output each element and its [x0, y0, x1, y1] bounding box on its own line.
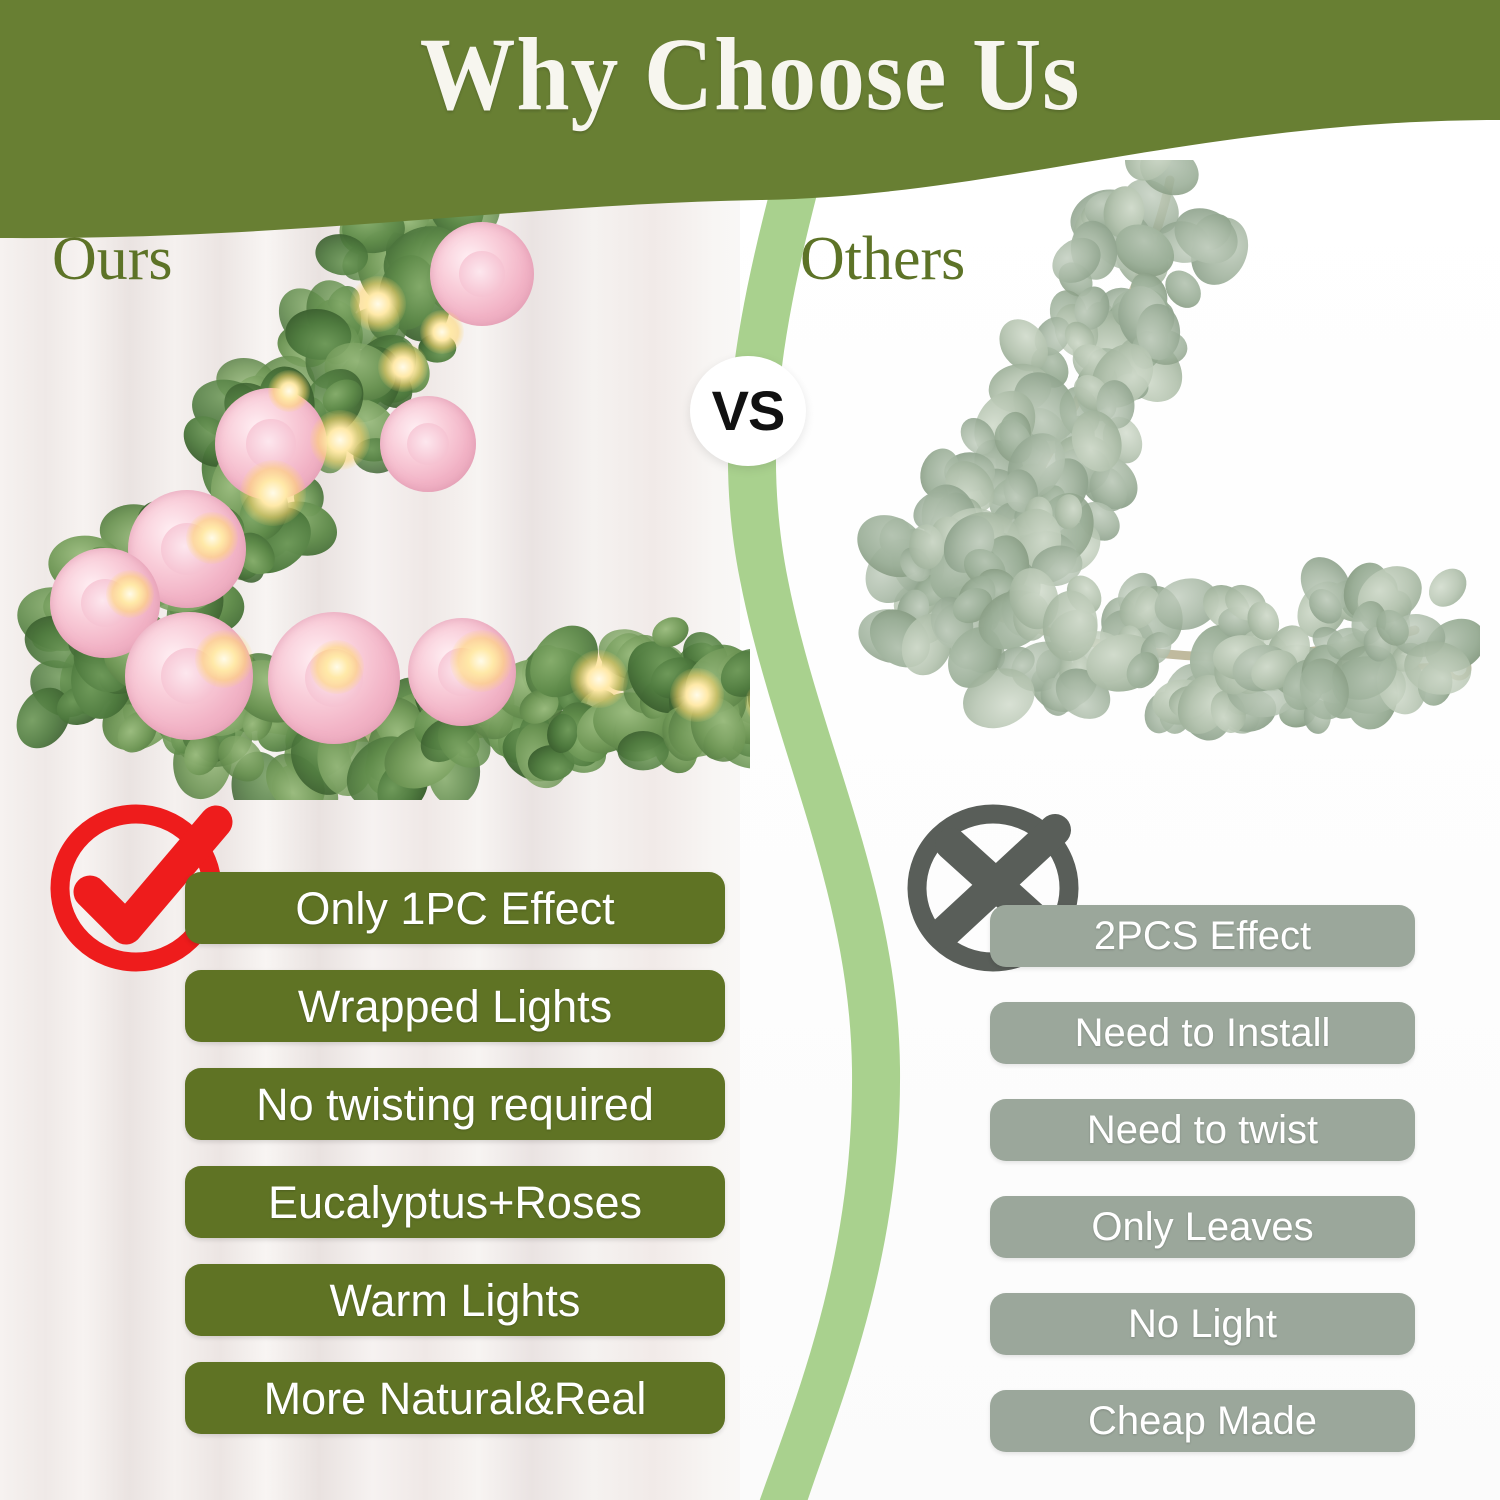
page-title: Why Choose Us [0, 0, 1500, 150]
others-feature-pill-label: Only Leaves [1091, 1207, 1313, 1247]
others-feature-pill-label: Cheap Made [1088, 1401, 1317, 1441]
others-feature-pill[interactable]: 2PCS Effect [990, 905, 1415, 967]
others-feature-pill-label: No Light [1128, 1304, 1277, 1344]
ours-feature-pill-label: Only 1PC Effect [295, 886, 614, 931]
warm-light-icon [350, 276, 406, 332]
page-title-text: Why Choose Us [420, 23, 1081, 127]
others-feature-pill[interactable]: Cheap Made [990, 1390, 1415, 1452]
warm-light-icon [378, 342, 428, 392]
infographic-canvas: Why Choose Us Ours Others VS Only 1PC Ef… [0, 0, 1500, 1500]
warm-light-icon [450, 630, 512, 692]
others-feature-pill[interactable]: Need to Install [990, 1002, 1415, 1064]
warm-light-icon [268, 370, 310, 412]
header-banner: Why Choose Us [0, 0, 1500, 250]
warm-light-icon [310, 410, 370, 470]
ours-label: Ours [52, 228, 173, 290]
ours-feature-pill-label: More Natural&Real [264, 1376, 647, 1421]
ours-feature-pill-label: Eucalyptus+Roses [268, 1180, 642, 1225]
ours-feature-pill[interactable]: No twisting required [185, 1068, 725, 1140]
ours-feature-pill[interactable]: More Natural&Real [185, 1362, 725, 1434]
others-feature-pill-label: 2PCS Effect [1094, 916, 1311, 956]
warm-light-icon [186, 512, 238, 564]
ours-feature-pill[interactable]: Wrapped Lights [185, 970, 725, 1042]
ours-feature-pill[interactable]: Eucalyptus+Roses [185, 1166, 725, 1238]
others-feature-pill[interactable]: No Light [990, 1293, 1415, 1355]
ours-feature-pill[interactable]: Warm Lights [185, 1264, 725, 1336]
warm-light-icon [420, 310, 464, 354]
warm-light-icon [106, 570, 154, 618]
others-feature-pill[interactable]: Need to twist [990, 1099, 1415, 1161]
others-feature-pill-label: Need to Install [1075, 1013, 1331, 1053]
others-label: Others [800, 228, 965, 290]
vs-badge: VS [690, 356, 806, 466]
pink-rose-icon [380, 396, 476, 492]
others-feature-pill-label: Need to twist [1087, 1110, 1318, 1150]
vs-label: VS [712, 383, 785, 439]
ours-feature-pill-label: Warm Lights [330, 1278, 581, 1323]
warm-light-icon [240, 460, 306, 526]
ours-feature-pill[interactable]: Only 1PC Effect [185, 872, 725, 944]
ours-feature-pill-label: Wrapped Lights [298, 984, 612, 1029]
ours-feature-pill-label: No twisting required [256, 1082, 654, 1127]
others-feature-pill[interactable]: Only Leaves [990, 1196, 1415, 1258]
warm-light-icon [310, 640, 364, 694]
warm-light-icon [195, 630, 253, 688]
